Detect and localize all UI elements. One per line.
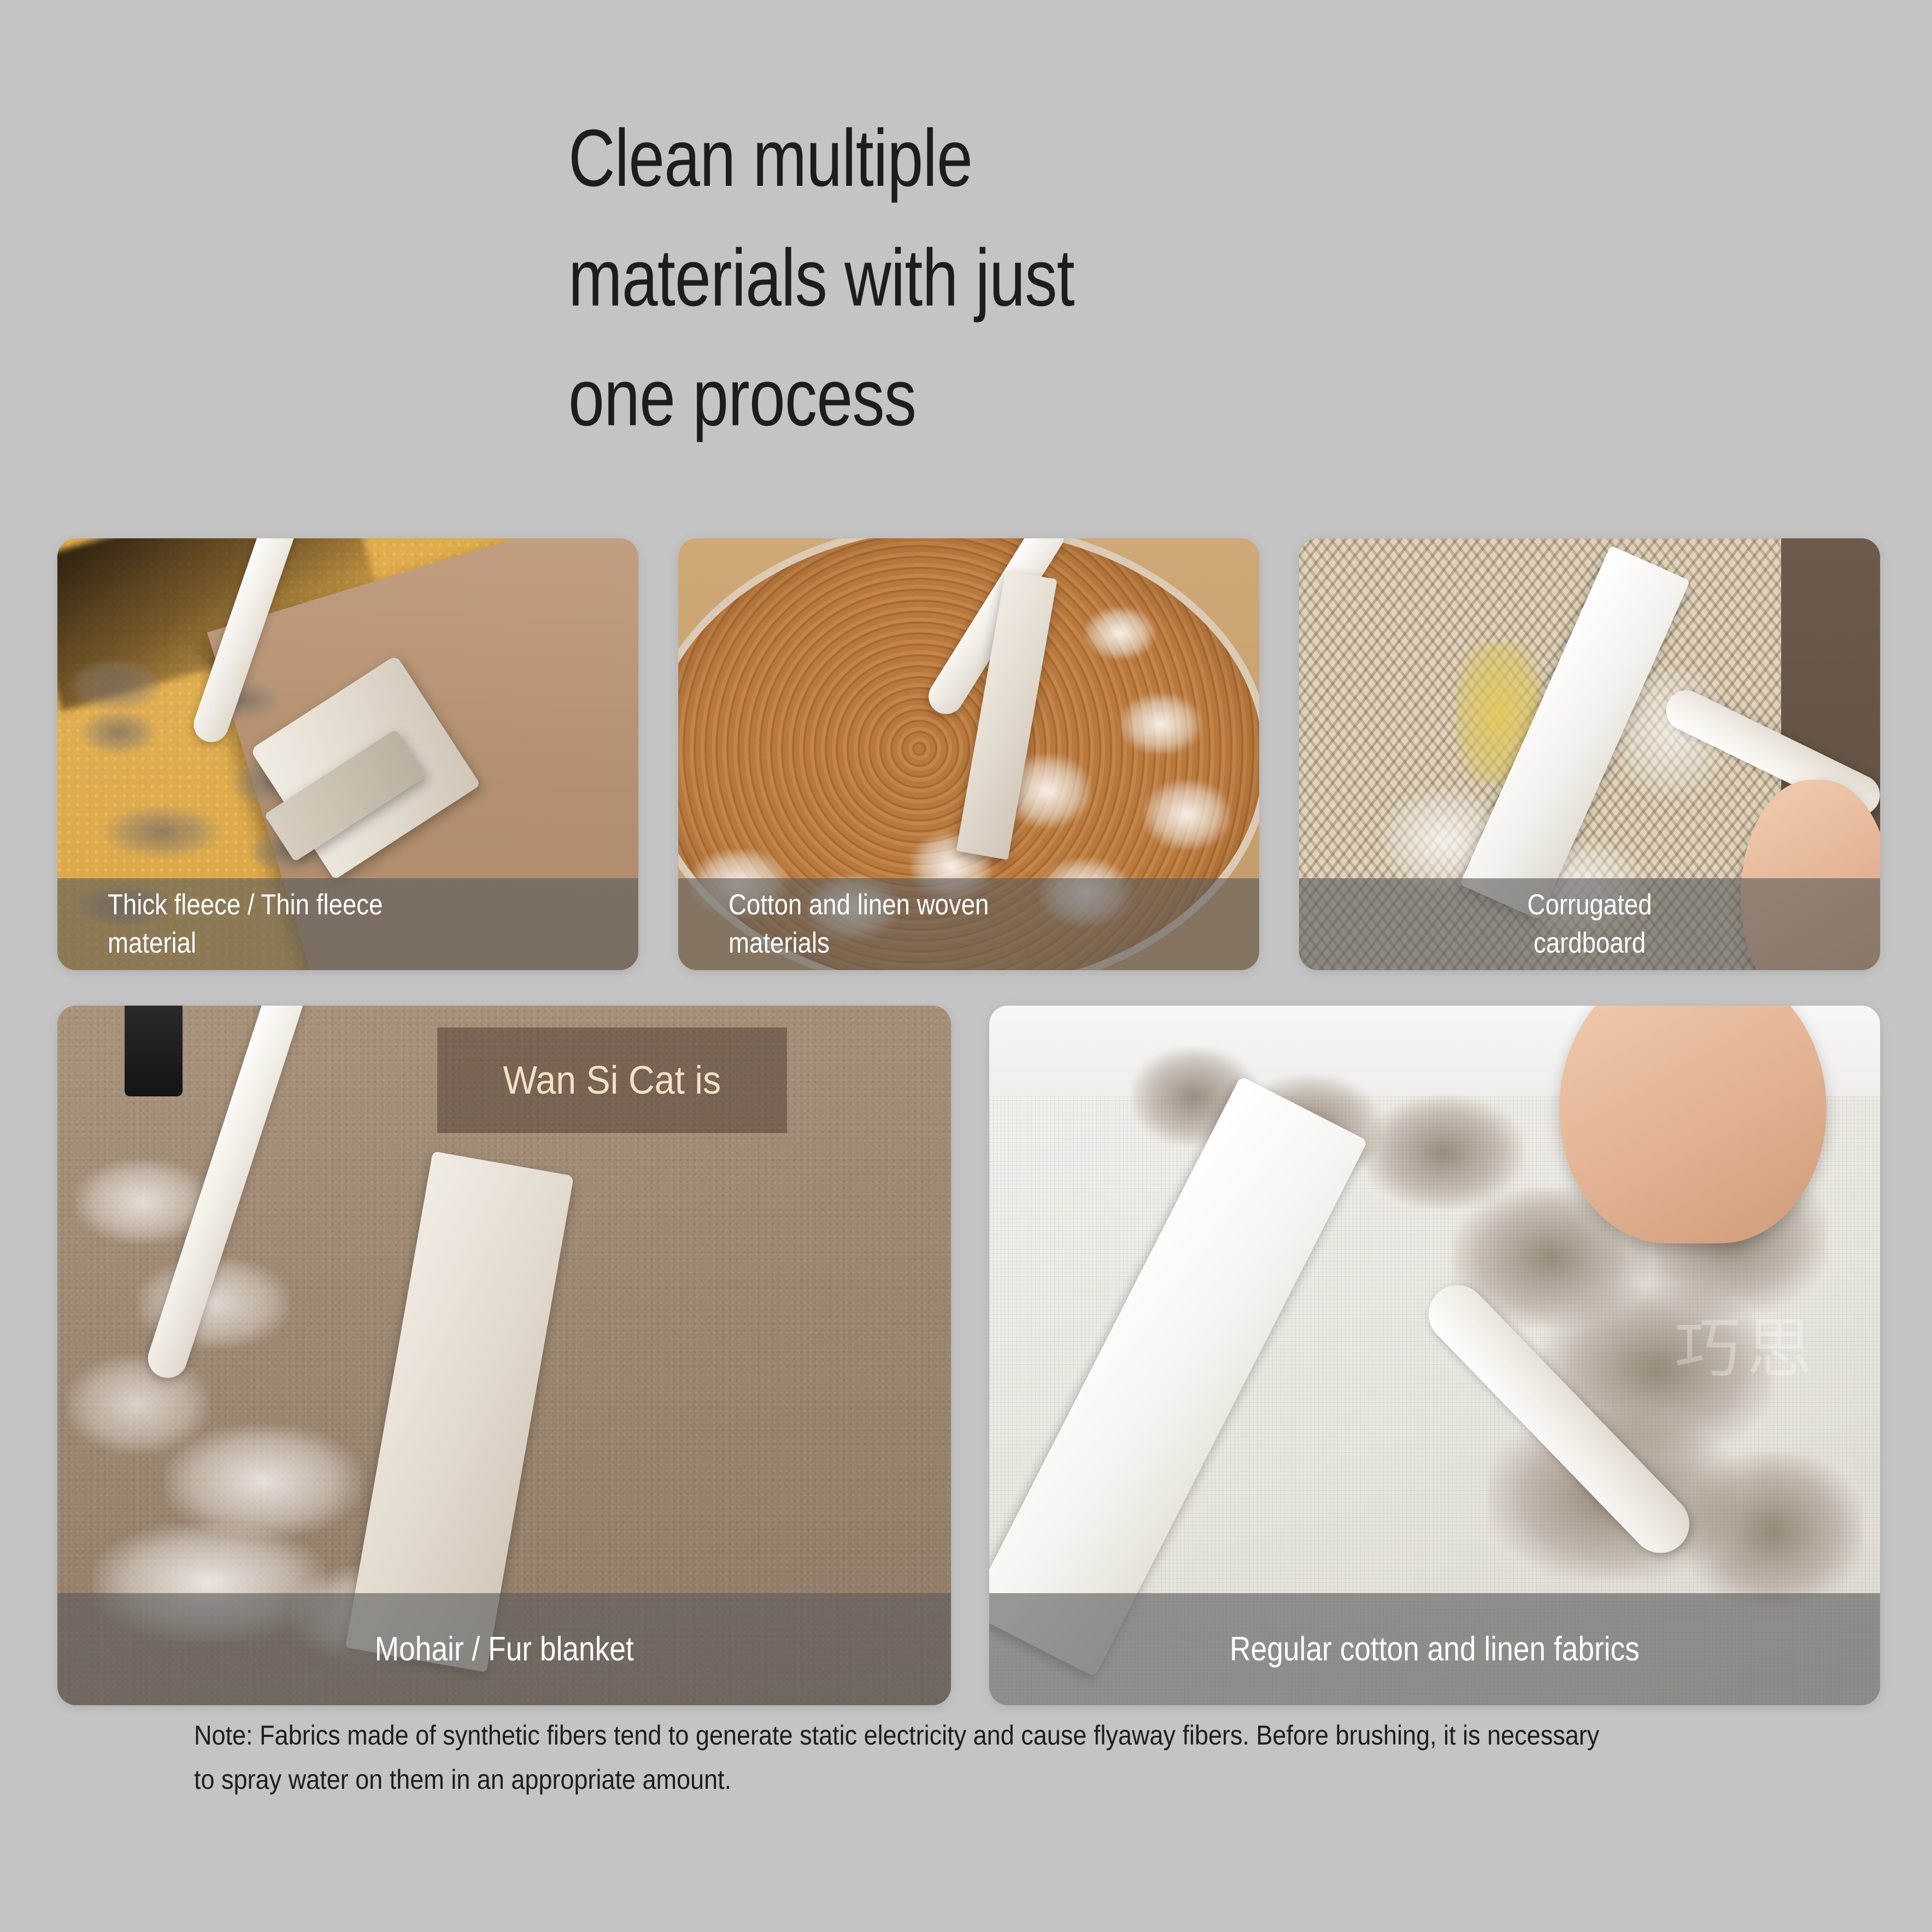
photo-corrugated-cardboard: Corrugated cardboard [1299,538,1880,970]
footer-note: Note: Fabrics made of synthetic fibers t… [194,1713,1719,1802]
material-card-corrugated-cardboard[interactable]: Corrugated cardboard [1299,538,1880,970]
card-caption-band: Cotton and linen woven materials [678,878,1259,970]
card-caption-text: Thick fleece / Thin fleece material [108,886,383,963]
photo-thick-thin-fleece: Thick fleece / Thin fleece material [57,538,638,970]
photo-cotton-linen-woven: Cotton and linen woven materials [678,538,1259,970]
card-caption-text: Mohair / Fur blanket [374,1630,633,1669]
photo-regular-cotton-linen: 巧思 Regular cotton and linen fabrics [989,1006,1880,1705]
material-card-cotton-linen-woven[interactable]: Cotton and linen woven materials [678,538,1259,970]
card-caption-band: Corrugated cardboard [1299,878,1880,970]
card-caption-text: Cotton and linen woven materials [729,886,989,963]
brand-overlay-band: Wan Si Cat is [437,1027,787,1133]
material-card-regular-cotton-linen[interactable]: 巧思 Regular cotton and linen fabrics [989,1006,1880,1705]
card-caption-band: Regular cotton and linen fabrics [989,1593,1880,1705]
card-caption-band: Thick fleece / Thin fleece material [57,878,638,970]
card-caption-text: Corrugated cardboard [1527,886,1652,963]
page-title: Clean multiple materials with just one p… [568,98,1312,457]
card-caption-band: Mohair / Fur blanket [57,1593,951,1705]
material-card-mohair-fur-blanket[interactable]: Wan Si Cat is Mohair / Fur blanket [57,1006,951,1705]
brand-overlay-text: Wan Si Cat is [503,1058,721,1103]
photo-mohair-fur-blanket: Wan Si Cat is Mohair / Fur blanket [57,1006,951,1705]
card-caption-text: Regular cotton and linen fabrics [1230,1630,1640,1669]
material-card-thick-thin-fleece[interactable]: Thick fleece / Thin fleece material [57,538,638,970]
